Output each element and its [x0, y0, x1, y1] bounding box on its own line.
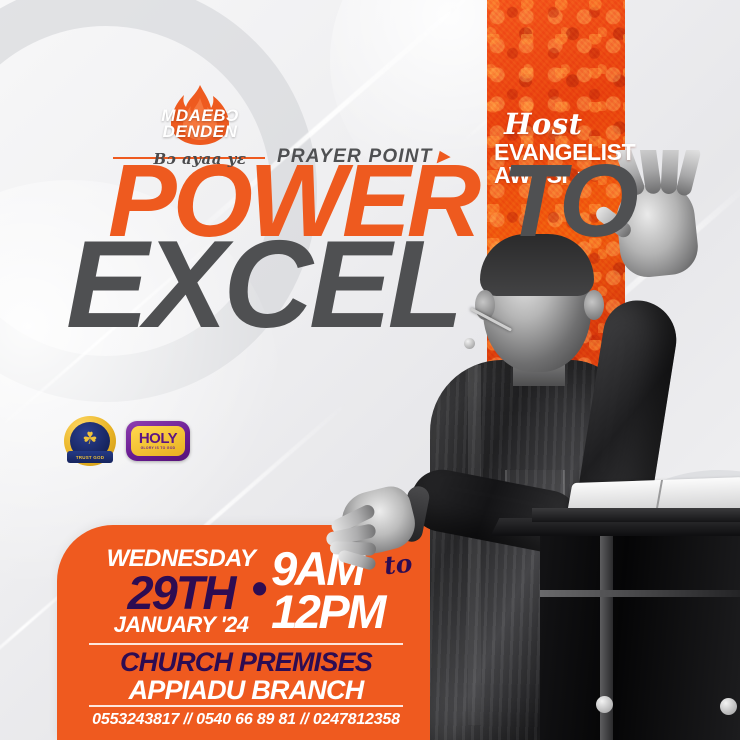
podium-surface [532, 508, 740, 522]
church-seal-badge: ☘ TRUST GOD [64, 416, 116, 466]
shirt-placket [468, 365, 481, 725]
podium-body [540, 536, 740, 740]
church-logo: MDAEBƆ DENDEN Bɔ ayaa yɛ [152, 84, 248, 168]
praying-hands-icon: ☘ [82, 429, 97, 449]
host-script-label: Host [504, 110, 644, 138]
day-number: 29TH [105, 569, 257, 616]
holy-badge-inner: HOLY GLORY IS TO GOD [131, 426, 185, 456]
headline-to: TO [502, 143, 635, 258]
flame-icon: MDAEBƆ DENDEN [152, 84, 248, 146]
holy-badge-subtitle: GLORY IS TO GOD [141, 447, 176, 450]
logo-line-2: DENDEN [152, 122, 248, 142]
headset-mic-tip [464, 338, 475, 349]
logo-script-tagline: Bɔ ayaa yɛ [152, 150, 248, 168]
holy-badge-word: HOLY [139, 431, 177, 446]
date-block: WEDNESDAY 29TH JANUARY '24 [105, 547, 257, 636]
seal-ribbon: TRUST GOD [67, 451, 113, 463]
badge-row: ☘ TRUST GOD HOLY GLORY IS TO GOD [64, 416, 190, 466]
podium-crossbar [540, 590, 740, 597]
separator-dot: • [251, 565, 267, 611]
finger [675, 150, 702, 197]
month-year: JANUARY '24 [105, 614, 257, 636]
event-flyer: Host EVANGELIST AWUSI▼ [0, 0, 740, 740]
holy-badge: HOLY GLORY IS TO GOD [126, 421, 190, 461]
page-title: POWER TO EXCEL [108, 160, 635, 336]
podium-knob [596, 696, 613, 713]
podium-knob [720, 698, 737, 715]
